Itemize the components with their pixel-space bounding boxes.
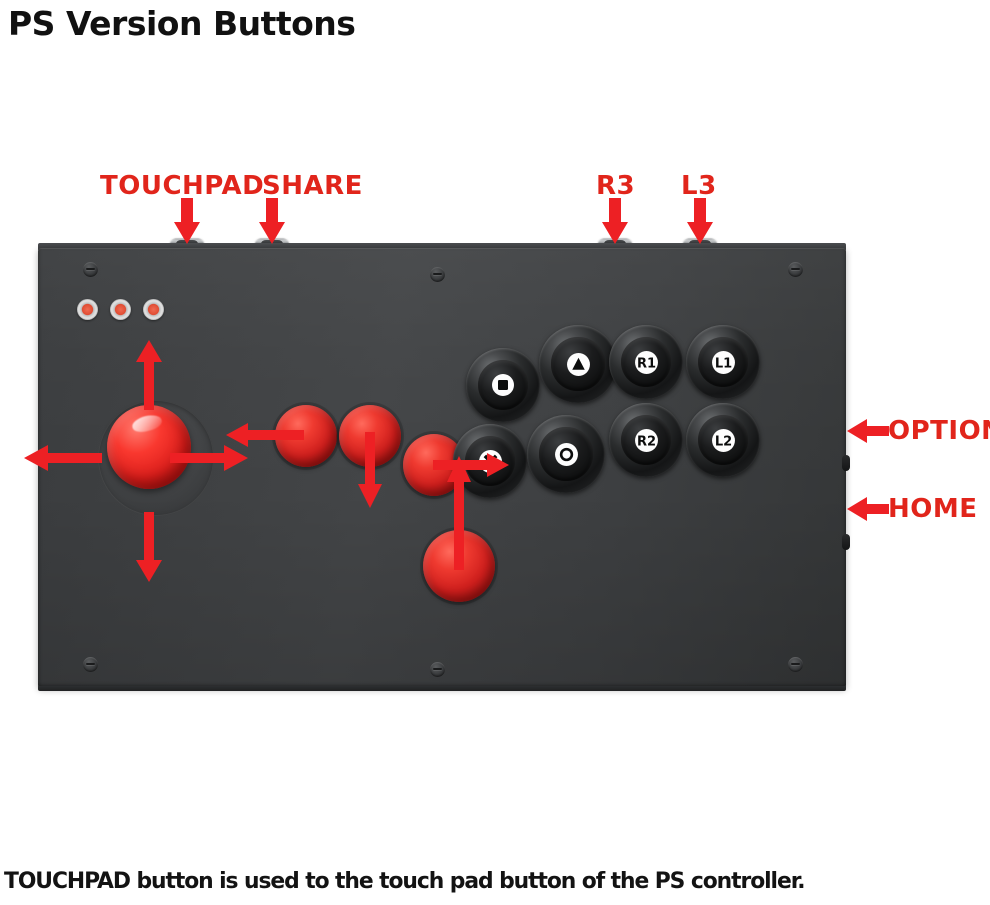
share-label: SHARE bbox=[262, 173, 363, 199]
r2-button-label: R2 bbox=[636, 434, 655, 449]
screw-bottom-left bbox=[83, 657, 98, 672]
enclosure-bottom-bevel bbox=[38, 686, 846, 691]
screw-top-left bbox=[83, 262, 98, 277]
option-callout-arrow bbox=[847, 418, 889, 444]
home-side-button[interactable] bbox=[842, 534, 850, 550]
joystick-arrow-down bbox=[135, 512, 163, 582]
r1-button-label: R1 bbox=[636, 356, 655, 371]
l2-button-cap: L2 bbox=[698, 415, 748, 465]
screw-bottom-center bbox=[430, 662, 445, 677]
joystick-arrow-left bbox=[24, 444, 102, 472]
l2-button-label: L2 bbox=[714, 434, 731, 449]
l2-button[interactable]: L2 bbox=[686, 403, 760, 477]
r1-label-icon: R1 bbox=[634, 350, 659, 375]
page-title: PS Version Buttons bbox=[8, 4, 355, 43]
red-button-2-arrow-down bbox=[357, 432, 383, 508]
option-label: OPTION bbox=[888, 418, 990, 444]
l2-label-icon: L2 bbox=[711, 428, 736, 453]
circle-icon bbox=[554, 442, 579, 467]
led-indicator-3 bbox=[143, 299, 164, 320]
square-icon bbox=[491, 373, 515, 397]
square-button-cap bbox=[478, 360, 528, 410]
option-side-button[interactable] bbox=[842, 455, 850, 471]
circle-button[interactable] bbox=[527, 415, 605, 493]
l1-button[interactable]: L1 bbox=[686, 325, 760, 399]
led-indicator-1 bbox=[77, 299, 98, 320]
r1-button-cap: R1 bbox=[621, 337, 671, 387]
red-button-1-arrow-left bbox=[226, 422, 304, 448]
l3-callout-arrow bbox=[686, 198, 714, 244]
red-button-4-arrow-up bbox=[446, 456, 472, 570]
touchpad-label: TOUCHPAD bbox=[100, 173, 264, 199]
led-indicator-2 bbox=[110, 299, 131, 320]
l1-button-cap: L1 bbox=[698, 337, 748, 387]
triangle-button-cap bbox=[551, 337, 604, 390]
triangle-icon bbox=[566, 352, 591, 377]
share-callout-arrow bbox=[258, 198, 286, 244]
home-label: HOME bbox=[888, 496, 978, 522]
r3-callout-arrow bbox=[601, 198, 629, 244]
footer-caption: TOUCHPAD button is used to the touch pad… bbox=[4, 868, 805, 894]
screw-top-center bbox=[430, 267, 445, 282]
joystick-arrow-right bbox=[170, 444, 248, 472]
triangle-button[interactable] bbox=[539, 325, 617, 403]
touchpad-callout-arrow bbox=[173, 198, 201, 244]
l3-label: L3 bbox=[681, 173, 717, 199]
screw-bottom-right bbox=[788, 657, 803, 672]
r2-button[interactable]: R2 bbox=[609, 403, 683, 477]
r3-label: R3 bbox=[596, 173, 635, 199]
l1-label-icon: L1 bbox=[711, 350, 736, 375]
square-button[interactable] bbox=[466, 348, 540, 422]
screw-top-right bbox=[788, 262, 803, 277]
r2-label-icon: R2 bbox=[634, 428, 659, 453]
home-callout-arrow bbox=[847, 496, 889, 522]
joystick-arrow-up bbox=[135, 340, 163, 410]
product-photo: R1 L1 bbox=[0, 60, 990, 850]
l1-button-label: L1 bbox=[714, 356, 731, 371]
circle-button-cap bbox=[539, 427, 592, 480]
r1-button[interactable]: R1 bbox=[609, 325, 683, 399]
r2-button-cap: R2 bbox=[621, 415, 671, 465]
